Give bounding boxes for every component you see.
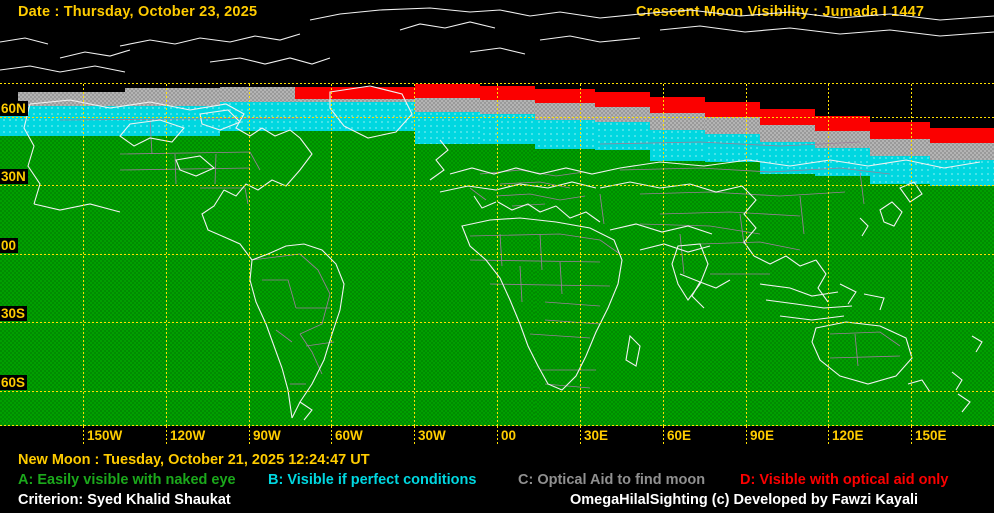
tick-longitude: [911, 426, 912, 446]
arctic-coastline-overlay: [0, 0, 994, 84]
tick-longitude: [497, 426, 498, 446]
tick-longitude: [331, 426, 332, 446]
tick-longitude: [828, 426, 829, 446]
label-latitude: 30N: [0, 169, 28, 184]
legend-item-b: B: Visible if perfect conditions: [268, 472, 476, 488]
map-top-gridline: [0, 83, 994, 84]
label-longitude: 30E: [584, 428, 608, 443]
label-longitude: 60W: [335, 428, 363, 443]
label-longitude: 30W: [418, 428, 446, 443]
label-latitude: 00: [0, 238, 18, 253]
tick-longitude: [414, 426, 415, 446]
legend-item-c: C: Optical Aid to find moon: [518, 472, 705, 488]
label-longitude: 00: [501, 428, 516, 443]
coastlines-and-borders: [0, 84, 994, 426]
map-bottom-gridline: [0, 425, 994, 426]
tick-longitude: [249, 426, 250, 446]
label-longitude: 150E: [915, 428, 947, 443]
legend-item-a: A: Easily visible with naked eye: [18, 472, 236, 488]
label-longitude: 120W: [170, 428, 205, 443]
label-latitude: 60N: [0, 101, 28, 116]
label-latitude: 30S: [0, 306, 27, 321]
tick-longitude: [746, 426, 747, 446]
credit-label: OmegaHilalSighting (c) Developed by Fawz…: [570, 492, 918, 508]
new-moon-label: New Moon : Tuesday, October 21, 2025 12:…: [18, 452, 370, 468]
label-longitude: 90E: [750, 428, 774, 443]
tick-longitude: [580, 426, 581, 446]
label-longitude: 120E: [832, 428, 864, 443]
tick-longitude: [166, 426, 167, 446]
criterion-label: Criterion: Syed Khalid Shaukat: [18, 492, 231, 508]
crescent-moon-visibility-map: Date : Thursday, October 23, 2025 Cresce…: [0, 0, 994, 513]
tick-longitude: [663, 426, 664, 446]
label-longitude: 90W: [253, 428, 281, 443]
label-latitude: 60S: [0, 375, 27, 390]
label-longitude: 60E: [667, 428, 691, 443]
legend-item-d: D: Visible with optical aid only: [740, 472, 948, 488]
label-longitude: 150W: [87, 428, 122, 443]
tick-longitude: [83, 426, 84, 446]
world-map-panel: [0, 84, 994, 426]
